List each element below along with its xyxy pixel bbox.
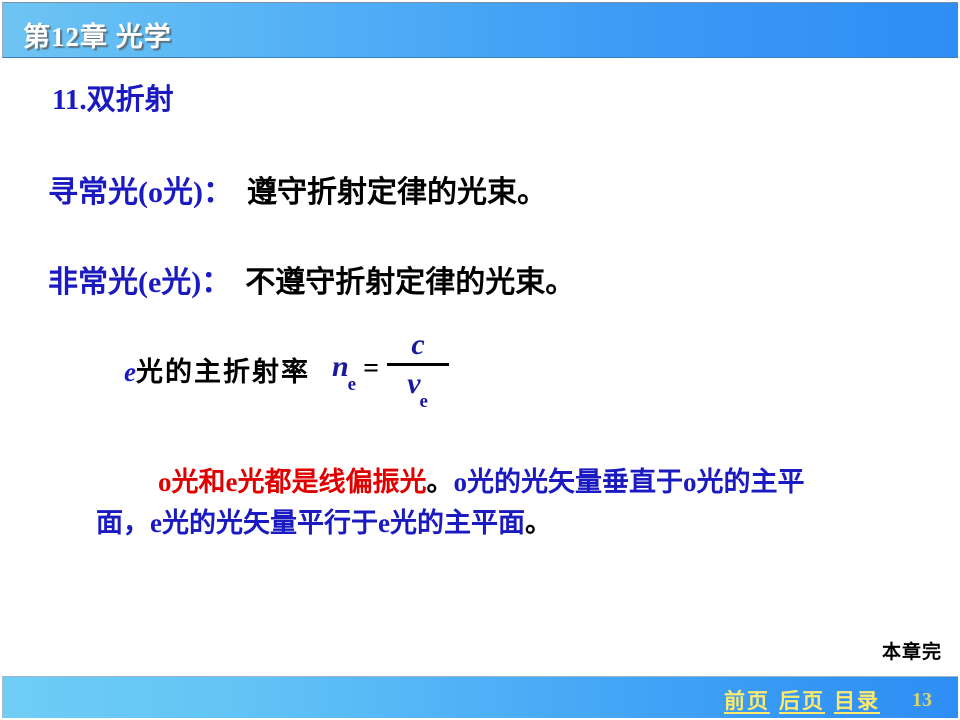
prev-page-link[interactable]: 前页	[724, 685, 770, 715]
definition-text-extraordinary: 不遵守折射定律的光束。	[245, 266, 575, 299]
paragraph-red-clause: o光和e光都是线偏振光	[158, 467, 426, 497]
formula-variable: ne	[332, 350, 357, 389]
section-title: 11.双折射	[52, 76, 174, 118]
fraction-bar	[387, 363, 449, 366]
formula-equals-sign: =	[363, 353, 379, 385]
formula-block: e光的主折射率 ne = c ve	[124, 332, 449, 406]
formula-label-prefix: e	[124, 357, 136, 387]
definition-text-ordinary: 遵守折射定律的光束。	[247, 176, 547, 209]
definition-row-ordinary: 寻常光(o光)：遵守折射定律的光束。	[48, 167, 547, 211]
definition-term-extraordinary: 非常光(e光)：	[48, 266, 231, 299]
footer-bar: 前页 后页 目录 13	[2, 676, 958, 718]
formula-variable-base: n	[332, 350, 349, 383]
footer-navigation: 前页 后页 目录	[724, 685, 880, 715]
slide-content: 11.双折射 寻常光(o光)：遵守折射定律的光束。 非常光(e光)：不遵守折射定…	[0, 60, 960, 630]
definition-row-extraordinary: 非常光(e光)：不遵守折射定律的光束。	[48, 257, 575, 301]
paragraph-black-period: 。	[426, 467, 453, 497]
formula-numerator: c	[401, 330, 434, 360]
end-of-chapter-note: 本章完	[882, 637, 942, 664]
formula-label: e光的主折射率	[124, 350, 310, 389]
chapter-title: 第12章 光学	[23, 15, 172, 54]
formula-variable-subscript: e	[348, 374, 356, 395]
formula-denominator-subscript: e	[420, 391, 428, 412]
formula-denominator-base: v	[407, 367, 420, 400]
highlight-paragraph: o光和e光都是线偏振光。o光的光矢量垂直于o光的主平面，e光的光矢量平行于e光的…	[96, 462, 812, 544]
paragraph-end-period: 。	[525, 508, 552, 538]
table-of-contents-link[interactable]: 目录	[834, 685, 880, 715]
next-page-link[interactable]: 后页	[779, 685, 825, 715]
definition-term-ordinary: 寻常光(o光)：	[48, 176, 233, 209]
page-number: 13	[912, 689, 932, 712]
formula-denominator: ve	[397, 369, 439, 404]
formula-expression: ne = c ve	[332, 332, 449, 406]
slide-root: 第12章 光学 11.双折射 寻常光(o光)：遵守折射定律的光束。 非常光(e光…	[0, 0, 960, 720]
header-bar: 第12章 光学	[2, 2, 958, 58]
formula-label-rest: 光的主折射率	[136, 357, 310, 387]
formula-fraction: c ve	[387, 330, 449, 404]
